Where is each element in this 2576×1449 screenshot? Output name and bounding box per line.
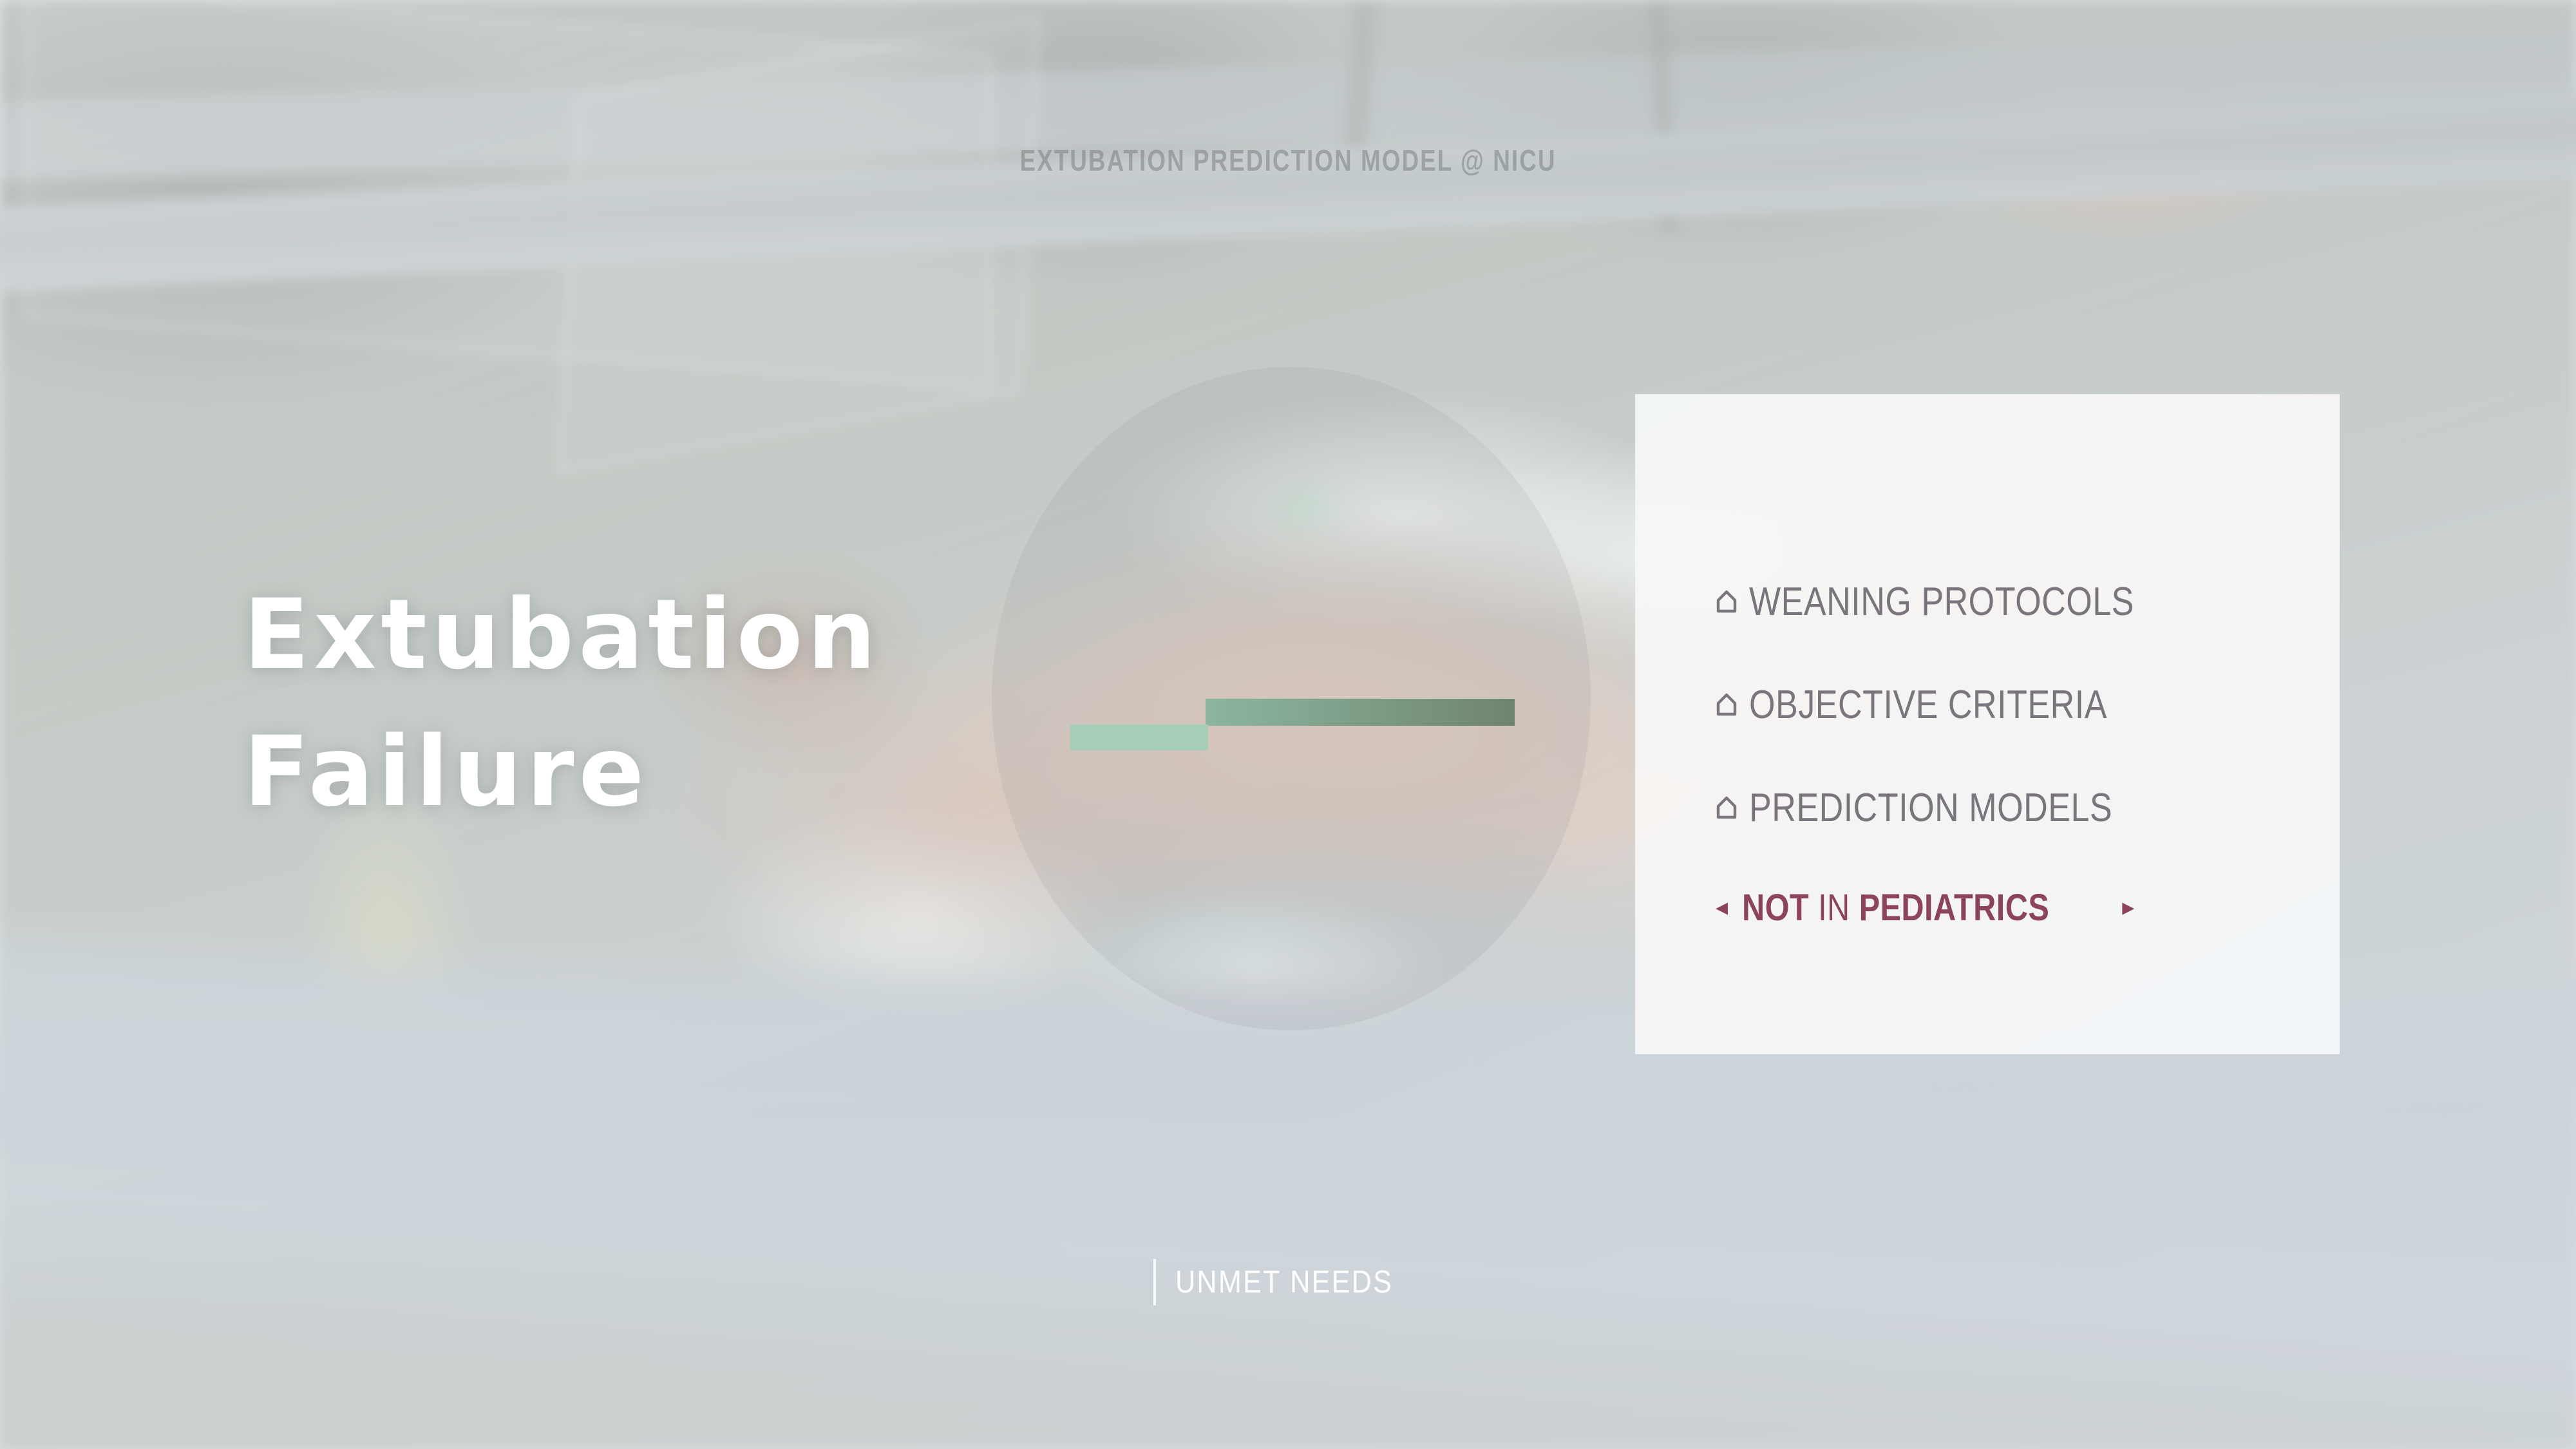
highlight-word-not: NOT [1742, 887, 1809, 929]
chevron-right-icon: ▸ [2122, 895, 2134, 920]
list-item[interactable]: PREDICTION MODELS [1716, 756, 2315, 859]
footer-divider [1153, 1259, 1156, 1305]
footer-label: UNMET NEEDS [1175, 1264, 1393, 1300]
list-item-label: OBJECTIVE CRITERIA [1749, 682, 2107, 728]
home-icon [1716, 692, 1738, 717]
chevron-left-icon: ◂ [1716, 895, 1728, 920]
unmet-needs-list: WEANING PROTOCOLS OBJECTIVE CRITERIA PRE… [1716, 550, 2315, 956]
list-item-label: WEANING PROTOCOLS [1749, 579, 2134, 625]
list-item[interactable]: WEANING PROTOCOLS [1716, 550, 2315, 653]
list-item[interactable]: OBJECTIVE CRITERIA [1716, 653, 2315, 756]
highlight-word-pediatrics: PEDIATRICS [1859, 887, 2050, 929]
home-icon [1716, 589, 1738, 614]
home-icon [1716, 795, 1738, 820]
list-item-highlight[interactable]: ◂ NOT IN PEDIATRICS ▸ [1716, 859, 2315, 956]
slide-root: EXTUBATION PREDICTION MODEL @ NICU Extub… [0, 0, 2576, 1449]
highlight-word-in: IN [1818, 887, 1850, 929]
list-item-label: PREDICTION MODELS [1749, 785, 2112, 831]
accent-bar-light [1070, 724, 1208, 750]
footer-caption: UNMET NEEDS [0, 1259, 2576, 1305]
accent-bar-dark [1206, 699, 1515, 726]
page-title: Extubation Failure [243, 567, 1145, 841]
page-title-line-2: Failure [243, 704, 1145, 841]
eyebrow-heading: EXTUBATION PREDICTION MODEL @ NICU [258, 143, 2318, 178]
highlight-label: NOT IN PEDIATRICS [1742, 886, 2049, 929]
page-title-line-1: Extubation [243, 567, 1145, 704]
unmet-needs-panel: WEANING PROTOCOLS OBJECTIVE CRITERIA PRE… [1635, 394, 2340, 1054]
